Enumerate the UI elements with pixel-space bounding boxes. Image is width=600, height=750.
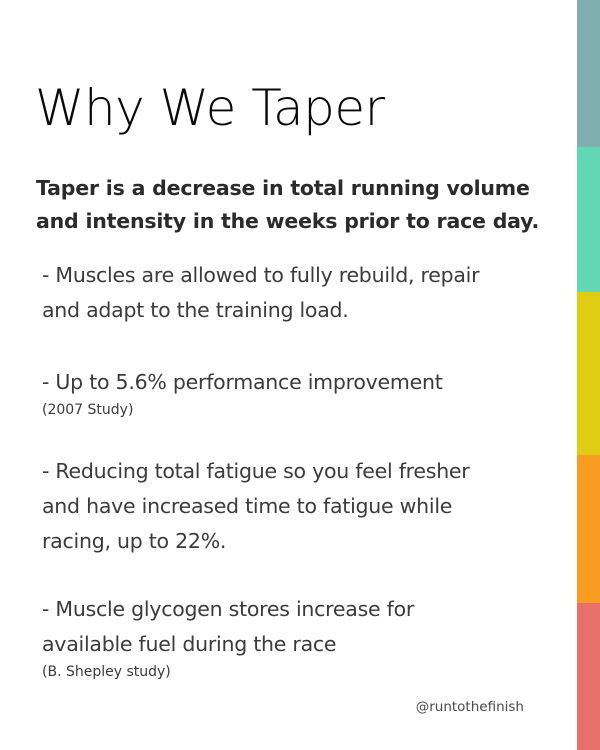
bullet-line: - Muscle glycogen stores increase for xyxy=(42,592,557,627)
decorative-color-stripe xyxy=(577,0,600,750)
bullet-line: - Up to 5.6% performance improvement xyxy=(42,365,557,400)
content-column: Why We Taper Taper is a decrease in tota… xyxy=(0,0,570,750)
list-item: - Up to 5.6% performance improvement (20… xyxy=(42,365,557,419)
color-band-orange xyxy=(577,455,600,603)
bullet-line: and adapt to the training load. xyxy=(42,293,557,328)
bullet-line: racing, up to 22%. xyxy=(42,524,557,559)
bullet-line: - Reducing total fatigue so you feel fre… xyxy=(42,454,557,489)
page-title: Why We Taper xyxy=(35,83,385,133)
citation-label: (B. Shepley study) xyxy=(42,663,557,681)
color-band-mint xyxy=(577,147,600,292)
list-item: - Reducing total fatigue so you feel fre… xyxy=(42,454,557,560)
bullet-line: available fuel during the race xyxy=(42,627,557,662)
color-band-coral xyxy=(577,603,600,750)
list-item: - Muscles are allowed to fully rebuild, … xyxy=(42,258,557,329)
color-band-yellow xyxy=(577,292,600,455)
infographic-canvas: Why We Taper Taper is a decrease in tota… xyxy=(0,0,600,750)
subtitle-line-1: Taper is a decrease in total running vol… xyxy=(36,172,556,205)
color-band-teal xyxy=(577,0,600,147)
benefits-list: - Muscles are allowed to fully rebuild, … xyxy=(42,258,557,681)
subtitle-line-2: and intensity in the weeks prior to race… xyxy=(36,205,556,238)
citation-label: (2007 Study) xyxy=(42,401,557,419)
bullet-line: and have increased time to fatigue while xyxy=(42,489,557,524)
bullet-line: - Muscles are allowed to fully rebuild, … xyxy=(42,258,557,293)
subtitle-definition: Taper is a decrease in total running vol… xyxy=(36,172,556,238)
list-item: - Muscle glycogen stores increase for av… xyxy=(42,592,557,682)
attribution-handle: @runtothefinish xyxy=(416,699,524,715)
